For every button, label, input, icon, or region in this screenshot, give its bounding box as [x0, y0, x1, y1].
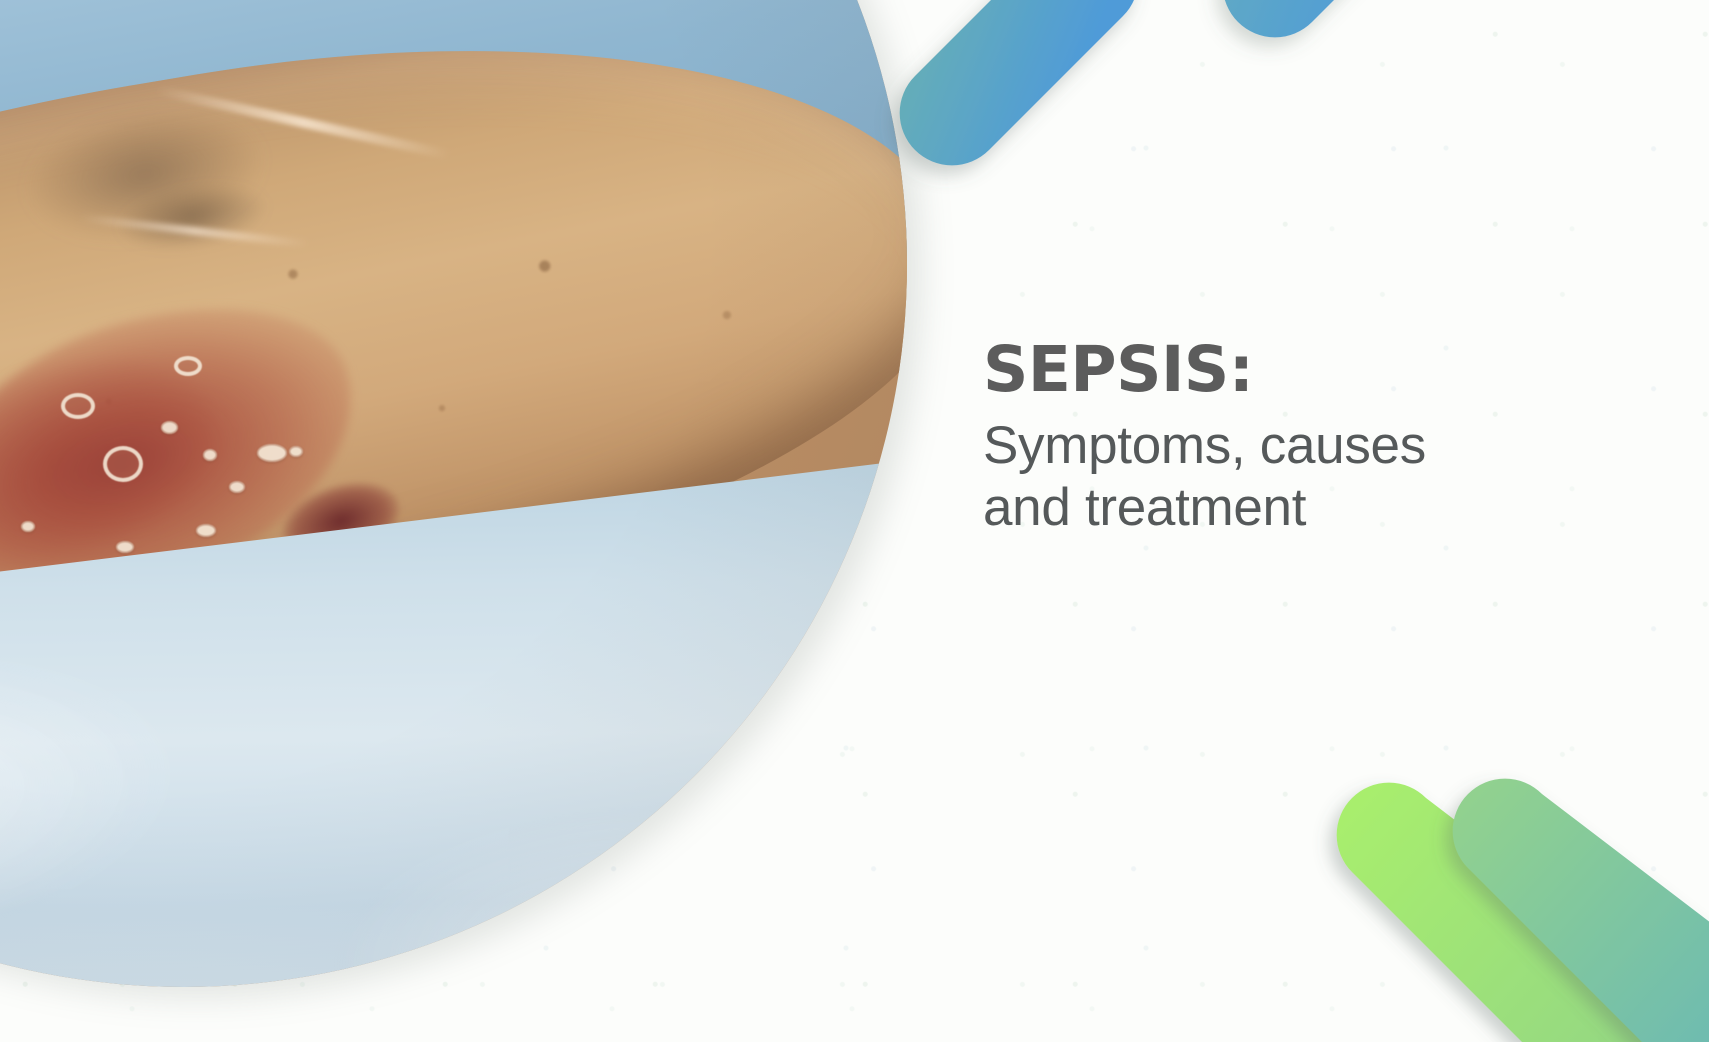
skin-scar-streak — [156, 85, 451, 160]
chevron-top-right-secondary-icon — [1116, 0, 1536, 60]
blister-lesion — [161, 421, 178, 434]
blister-lesion — [21, 521, 35, 532]
slide-subtitle: Symptoms, causes and treatment — [983, 415, 1623, 539]
chevron-bottom-right-right-icon — [1400, 744, 1709, 1042]
blister-lesion — [203, 449, 217, 461]
blister-lesion — [116, 541, 134, 553]
blister-lesion — [257, 444, 287, 462]
blister-lesion — [61, 393, 95, 419]
skin-bruise-secondary — [113, 175, 271, 259]
slide-subtitle-line-1: Symptoms, causes — [983, 415, 1623, 477]
blister-lesion — [196, 524, 216, 537]
skin-scar-streak-secondary — [80, 214, 309, 248]
blister-lesion — [289, 446, 303, 457]
slide-title: SEPSIS: — [983, 338, 1623, 401]
blister-lesion — [174, 356, 202, 376]
skin-bruise — [21, 96, 268, 252]
blister-lesion — [229, 481, 245, 493]
blister-lesion — [103, 446, 143, 482]
clinical-photo-circle — [0, 0, 907, 987]
slide-subtitle-line-2: and treatment — [983, 477, 1623, 539]
clinical-photo-image — [0, 0, 907, 987]
slide-text-block: SEPSIS: Symptoms, causes and treatment — [983, 338, 1623, 539]
slide-canvas: SEPSIS: Symptoms, causes and treatment — [0, 0, 1709, 1042]
